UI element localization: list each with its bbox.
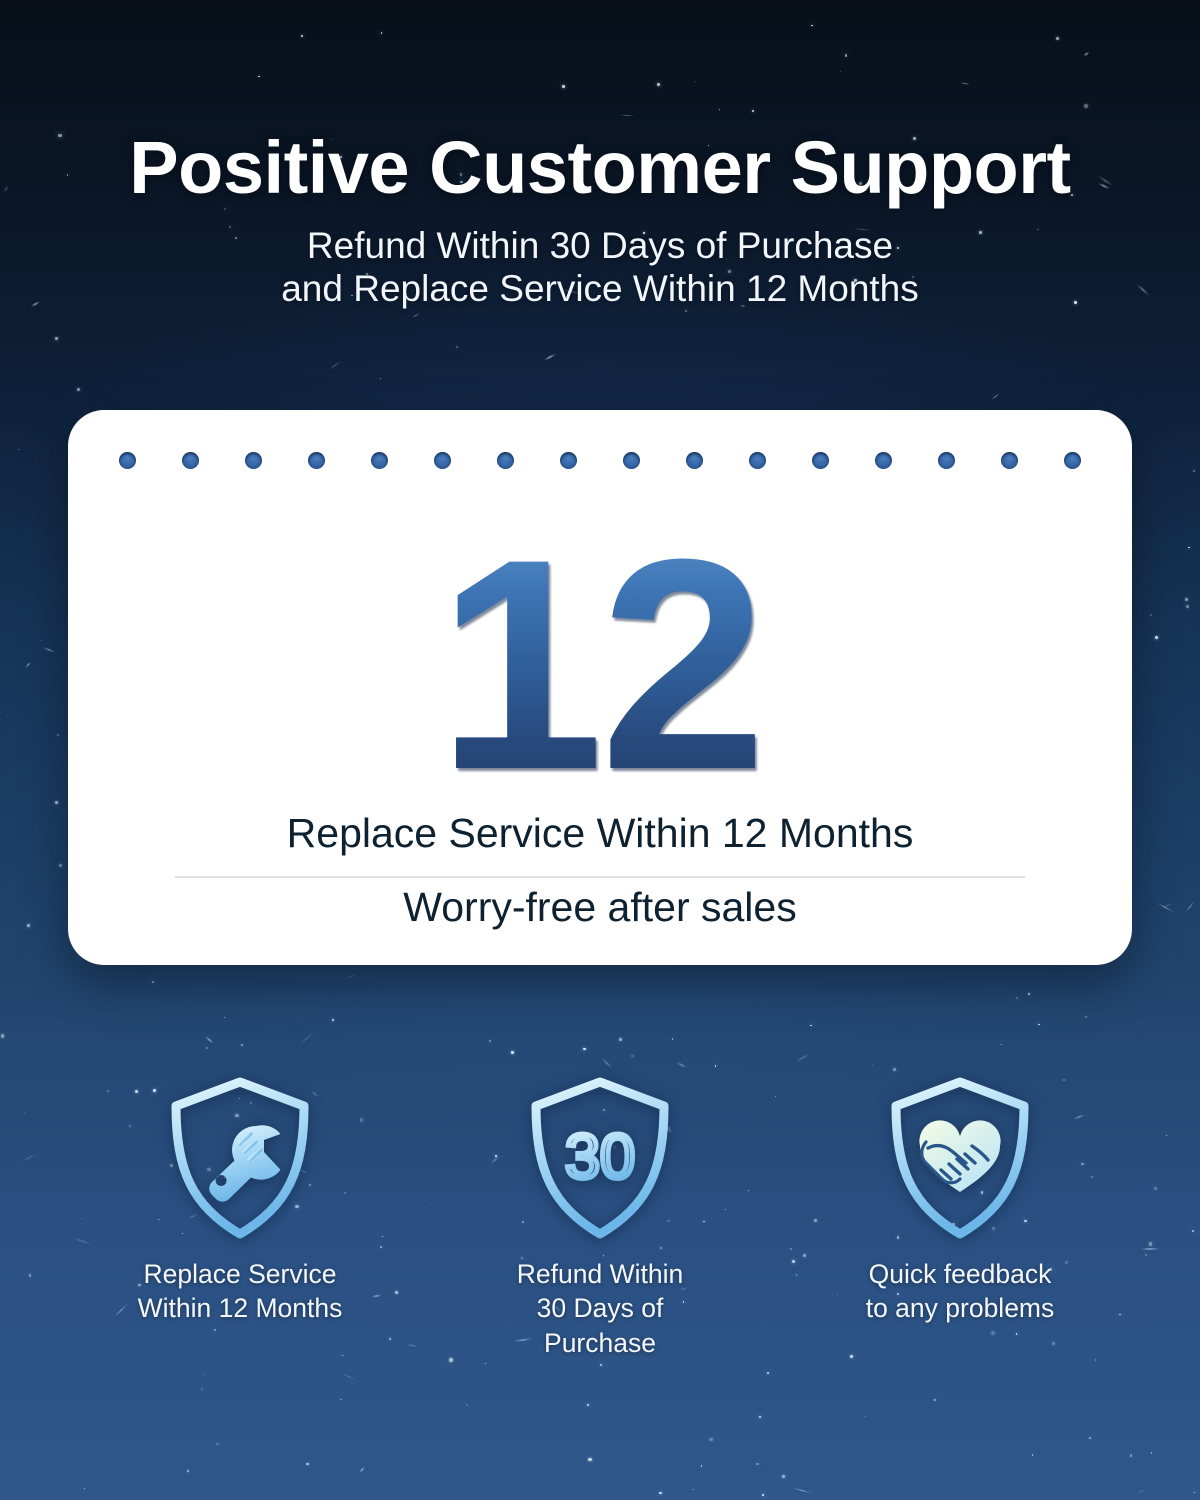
star-particle bbox=[306, 1463, 309, 1466]
star-particle bbox=[1028, 993, 1030, 995]
star-particle bbox=[762, 1494, 764, 1496]
star-particle bbox=[672, 1038, 674, 1040]
star-particle bbox=[216, 1443, 219, 1446]
star-particle bbox=[600, 1364, 602, 1366]
star-particle bbox=[1, 1034, 4, 1037]
star-particle bbox=[701, 1465, 703, 1467]
star-particle bbox=[328, 360, 342, 371]
star-particle bbox=[1188, 547, 1189, 548]
star-particle bbox=[810, 1025, 812, 1027]
star-particle bbox=[792, 1487, 812, 1494]
star-particle bbox=[893, 1068, 896, 1071]
card-binding-hole bbox=[749, 452, 766, 469]
star-particle bbox=[865, 1416, 866, 1417]
poster-canvas: Positive Customer Support Refund Within … bbox=[0, 0, 1200, 1500]
star-particle bbox=[759, 1416, 761, 1418]
star-particle bbox=[466, 1404, 468, 1406]
star-particle bbox=[340, 1399, 342, 1401]
star-particle bbox=[583, 1048, 585, 1050]
star-particle bbox=[659, 1492, 662, 1495]
card-headline: Replace Service Within 12 Months bbox=[68, 810, 1132, 857]
card-binding-hole bbox=[1001, 452, 1018, 469]
star-particle bbox=[872, 1064, 873, 1065]
star-particle bbox=[24, 662, 31, 669]
shield-30-days-icon: 30 bbox=[493, 1072, 708, 1244]
star-particle bbox=[152, 981, 154, 983]
star-particle bbox=[27, 924, 30, 927]
card-divider bbox=[175, 876, 1025, 878]
feature-caption-line-1: Refund Within bbox=[493, 1257, 708, 1291]
feature-caption-line-2: Within 12 Months bbox=[133, 1291, 348, 1325]
star-particle bbox=[41, 640, 42, 641]
star-particle bbox=[1137, 1489, 1145, 1494]
star-particle bbox=[344, 973, 357, 980]
star-particle bbox=[59, 864, 62, 867]
star-particle bbox=[380, 378, 382, 380]
star-particle bbox=[1156, 902, 1174, 913]
star-particle bbox=[991, 393, 1000, 401]
star-particle bbox=[1038, 1024, 1039, 1025]
star-particle bbox=[794, 1052, 811, 1063]
shield-wrench-icon bbox=[133, 1072, 348, 1244]
card-binding-hole bbox=[875, 452, 892, 469]
star-particle bbox=[456, 346, 459, 349]
star-particle bbox=[675, 1061, 687, 1069]
shield-badge-number: 30 bbox=[565, 1122, 635, 1192]
feature-caption-line-2: to any problems bbox=[853, 1291, 1068, 1325]
feature-item-replace-service: Replace Service Within 12 Months bbox=[133, 1072, 348, 1360]
big-number: 12 bbox=[68, 514, 1132, 814]
star-particle bbox=[206, 1047, 208, 1049]
star-particle bbox=[601, 1057, 613, 1069]
star-particle bbox=[224, 1017, 225, 1018]
subtitle-line-1: Refund Within 30 Days of Purchase bbox=[0, 225, 1200, 268]
card-binding-hole bbox=[497, 452, 514, 469]
star-particle bbox=[485, 1363, 487, 1365]
star-particle bbox=[1032, 1454, 1034, 1456]
star-particle bbox=[57, 734, 59, 736]
star-particle bbox=[84, 1488, 85, 1489]
star-particle bbox=[55, 801, 58, 804]
star-particle bbox=[619, 1038, 622, 1041]
card-binding-hole bbox=[623, 452, 640, 469]
star-particle bbox=[7, 715, 8, 716]
card-binding-hole bbox=[812, 452, 829, 469]
star-particle bbox=[1130, 1454, 1133, 1457]
feature-caption: Quick feedback to any problems bbox=[853, 1257, 1068, 1326]
warranty-card: 12 Replace Service Within 12 Months Worr… bbox=[68, 410, 1132, 965]
star-particle bbox=[1160, 903, 1174, 909]
subtitle-line-2: and Replace Service Within 12 Months bbox=[0, 268, 1200, 311]
star-particle bbox=[631, 1055, 633, 1057]
card-binding-hole bbox=[434, 452, 451, 469]
star-particle bbox=[55, 337, 58, 340]
star-particle bbox=[543, 353, 557, 362]
star-particle bbox=[1016, 997, 1018, 999]
star-particle bbox=[1185, 598, 1188, 601]
star-particle bbox=[1193, 470, 1195, 472]
card-binding-hole bbox=[938, 452, 955, 469]
star-particle bbox=[1194, 1492, 1195, 1493]
feature-item-refund: 30 Refund Within 30 Days of Purchase bbox=[493, 1072, 708, 1360]
star-particle bbox=[18, 449, 20, 451]
star-particle bbox=[1001, 1044, 1003, 1046]
card-binding-hole bbox=[1064, 452, 1081, 469]
card-binding-hole bbox=[686, 452, 703, 469]
star-particle bbox=[1184, 900, 1195, 914]
feature-caption: Refund Within 30 Days of Purchase bbox=[493, 1257, 708, 1360]
star-particle bbox=[693, 1489, 694, 1490]
star-particle bbox=[204, 1374, 205, 1375]
star-particle bbox=[187, 1470, 189, 1472]
card-binding-hole bbox=[371, 452, 388, 469]
star-particle bbox=[934, 1399, 937, 1402]
star-particle bbox=[587, 1404, 589, 1406]
star-particle bbox=[299, 1032, 314, 1046]
star-particle bbox=[511, 1051, 514, 1054]
card-binding-holes bbox=[68, 452, 1132, 469]
star-particle bbox=[1155, 636, 1158, 639]
star-particle bbox=[756, 1463, 759, 1466]
star-particle bbox=[201, 1388, 203, 1390]
star-particle bbox=[1186, 605, 1189, 608]
card-binding-hole bbox=[560, 452, 577, 469]
header: Positive Customer Support Refund Within … bbox=[0, 0, 1200, 311]
star-particle bbox=[42, 647, 56, 654]
feature-caption-line-1: Replace Service bbox=[133, 1257, 348, 1291]
shield-handshake-heart-icon bbox=[853, 1072, 1068, 1244]
star-particle bbox=[359, 1466, 365, 1473]
star-particle bbox=[77, 388, 80, 391]
star-particle bbox=[489, 1040, 491, 1042]
feature-caption-line-1: Quick feedback bbox=[853, 1257, 1068, 1291]
feature-list: Replace Service Within 12 Months 30 bbox=[0, 1072, 1200, 1360]
star-particle bbox=[782, 1475, 785, 1478]
card-binding-hole bbox=[308, 452, 325, 469]
star-particle bbox=[709, 1438, 712, 1441]
star-particle bbox=[1089, 1437, 1091, 1439]
star-particle bbox=[411, 312, 420, 318]
card-subline: Worry-free after sales bbox=[68, 884, 1132, 931]
feature-caption: Replace Service Within 12 Months bbox=[133, 1257, 348, 1326]
feature-item-quick-feedback: Quick feedback to any problems bbox=[853, 1072, 1068, 1360]
card-binding-hole bbox=[182, 452, 199, 469]
star-particle bbox=[1151, 1452, 1152, 1453]
star-particle bbox=[341, 1372, 356, 1381]
star-particle bbox=[332, 1019, 334, 1021]
page-title: Positive Customer Support bbox=[0, 131, 1200, 205]
star-particle bbox=[204, 1035, 214, 1044]
star-particle bbox=[767, 1372, 769, 1374]
star-particle bbox=[241, 1044, 243, 1046]
star-particle bbox=[715, 1065, 716, 1066]
card-binding-hole bbox=[119, 452, 136, 469]
star-particle bbox=[1085, 1016, 1087, 1018]
feature-caption-line-2: 30 Days of Purchase bbox=[493, 1291, 708, 1360]
star-particle bbox=[1150, 614, 1152, 616]
star-particle bbox=[588, 1458, 591, 1461]
card-binding-hole bbox=[245, 452, 262, 469]
